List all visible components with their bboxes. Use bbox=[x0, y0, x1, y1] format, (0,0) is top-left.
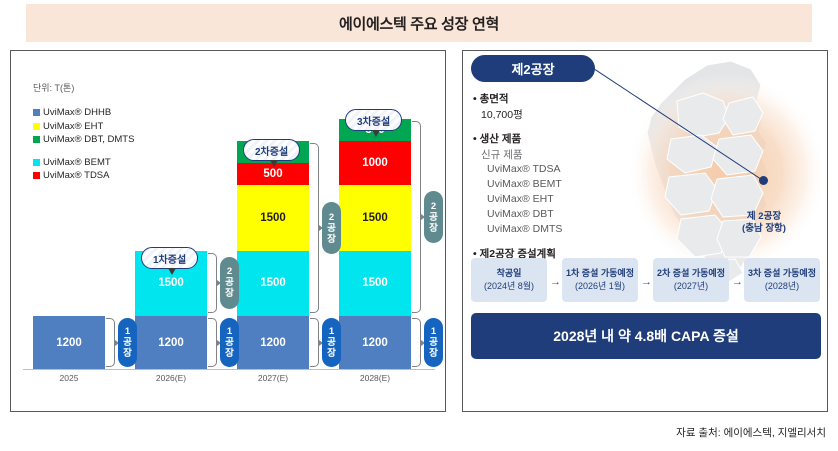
badge-char: 2 bbox=[227, 266, 232, 277]
expansion-callout: 2차증설 bbox=[243, 139, 300, 161]
factory1-badge: 1공장 bbox=[118, 318, 137, 367]
timeline-step[interactable]: 1차 증설 가동예정(2026년 1월) bbox=[562, 258, 638, 302]
badge-char: 장 bbox=[327, 234, 336, 245]
bracket bbox=[412, 318, 421, 367]
badge-char: 공 bbox=[225, 277, 234, 288]
badge-char: 2 bbox=[329, 212, 334, 223]
bracket bbox=[310, 318, 319, 367]
factory2-badge: 2공장 bbox=[322, 202, 341, 254]
bar-segment: 1200 bbox=[135, 316, 207, 369]
timeline-step[interactable]: 3차 증설 가동예정(2028년) bbox=[744, 258, 820, 302]
product-item: UviMax® TDSA bbox=[473, 162, 653, 177]
badge-char: 장 bbox=[429, 348, 438, 359]
badge-char: 공 bbox=[225, 337, 234, 348]
factory-info-block: • 총면적 10,700평 • 생산 제품 신규 제품 UviMax® TDSA… bbox=[473, 91, 653, 262]
x-axis-label: 2028(E) bbox=[339, 373, 411, 383]
x-axis-label: 2025 bbox=[33, 373, 105, 383]
infographic-page: 에이에스텍 주요 성장 연혁 단위: T(톤) UviMax® DHHBUviM… bbox=[0, 0, 838, 451]
expansion-callout: 1차증설 bbox=[141, 247, 198, 269]
bar-segment: 1500 bbox=[237, 185, 309, 251]
bar-column: 5001000150015001200 bbox=[339, 119, 411, 369]
x-axis-line bbox=[23, 369, 435, 370]
badge-char: 2 bbox=[431, 201, 436, 212]
product-item: UviMax® DMTS bbox=[473, 222, 653, 237]
badge-char: 1 bbox=[227, 326, 232, 337]
bracket bbox=[208, 253, 217, 314]
product-item: UviMax® BEMT bbox=[473, 177, 653, 192]
factory-location-dot bbox=[759, 176, 768, 185]
bar-column: 500500150015001200 bbox=[237, 141, 309, 369]
factory2-badge: 2공장 bbox=[424, 191, 443, 243]
timeline-step-date: (2028년) bbox=[765, 280, 799, 293]
badge-char: 장 bbox=[327, 348, 336, 359]
timeline-step-date: (2026년 1월) bbox=[575, 280, 625, 293]
badge-char: 공 bbox=[123, 337, 132, 348]
bar-segment: 1500 bbox=[339, 251, 411, 317]
expansion-timeline: 착공일(2024년 8월)→1차 증설 가동예정(2026년 1월)→2차 증설… bbox=[471, 258, 821, 306]
timeline-step-title: 3차 증설 가동예정 bbox=[748, 267, 816, 280]
timeline-arrow-icon: → bbox=[641, 276, 652, 288]
capa-banner-text: 2028년 내 약 4.8배 CAPA 증설 bbox=[553, 326, 738, 346]
badge-char: 1 bbox=[431, 326, 436, 337]
map-label-line2: (충남 장항) bbox=[709, 223, 819, 235]
badge-char: 장 bbox=[429, 223, 438, 234]
timeline-step[interactable]: 2차 증설 가동예정(2027년) bbox=[653, 258, 729, 302]
bar-segment: 1200 bbox=[237, 316, 309, 369]
timeline-step-title: 착공일 bbox=[497, 267, 522, 280]
source-footer: 자료 출처: 에이에스텍, 지엘리서치 bbox=[676, 425, 826, 440]
badge-char: 공 bbox=[327, 337, 336, 348]
factory1-badge: 1공장 bbox=[220, 318, 239, 367]
factory-header-text: 제2공장 bbox=[511, 59, 554, 78]
badge-char: 1 bbox=[125, 326, 130, 337]
bar-segment: 1500 bbox=[339, 185, 411, 251]
badge-char: 장 bbox=[225, 348, 234, 359]
bar-segment: 1500 bbox=[237, 251, 309, 317]
bracket bbox=[208, 318, 217, 367]
total-area-heading: • 총면적 bbox=[473, 91, 653, 106]
page-title: 에이에스텍 주요 성장 연혁 bbox=[339, 13, 499, 34]
badge-char: 장 bbox=[225, 288, 234, 299]
timeline-arrow-icon: → bbox=[550, 276, 561, 288]
factory2-badge: 2공장 bbox=[220, 257, 239, 309]
bar-segment: 1200 bbox=[33, 316, 105, 369]
total-area-value: 10,700평 bbox=[473, 107, 653, 122]
badge-char: 공 bbox=[327, 223, 336, 234]
bar-column: 1200 bbox=[33, 316, 105, 369]
bar-segment: 1000 bbox=[339, 141, 411, 185]
factory1-badge: 1공장 bbox=[424, 318, 443, 367]
x-axis-label: 2027(E) bbox=[237, 373, 309, 383]
badge-char: 장 bbox=[123, 348, 132, 359]
stacked-bar-chart: 1200150012005005001500150012005001000150… bbox=[11, 51, 447, 413]
bracket bbox=[412, 121, 421, 313]
product-list: UviMax® TDSAUviMax® BEMTUviMax® EHTUviMa… bbox=[473, 162, 653, 237]
timeline-step-title: 2차 증설 가동예정 bbox=[657, 267, 725, 280]
map-label-line1: 제 2공장 bbox=[709, 211, 819, 223]
factory-header-pill: 제2공장 bbox=[471, 55, 595, 82]
timeline-step-date: (2024년 8월) bbox=[484, 280, 534, 293]
timeline-step-title: 1차 증설 가동예정 bbox=[566, 267, 634, 280]
capa-banner: 2028년 내 약 4.8배 CAPA 증설 bbox=[471, 313, 821, 359]
product-item: UviMax® EHT bbox=[473, 192, 653, 207]
badge-char: 공 bbox=[429, 212, 438, 223]
factory-panel: 제2공장 제 2공장 (충남 장항) • 총면적 10,700평 • 생산 제품… bbox=[462, 50, 828, 412]
x-axis-label: 2026(E) bbox=[135, 373, 207, 383]
timeline-arrow-icon: → bbox=[732, 276, 743, 288]
bracket bbox=[310, 143, 319, 313]
map-location-label: 제 2공장 (충남 장항) bbox=[709, 211, 819, 235]
timeline-step-date: (2027년) bbox=[674, 280, 708, 293]
chart-panel: 단위: T(톤) UviMax® DHHBUviMax® EHTUviMax® … bbox=[10, 50, 446, 412]
factory1-badge: 1공장 bbox=[322, 318, 341, 367]
products-heading: • 생산 제품 bbox=[473, 131, 653, 146]
expansion-callout: 3차증설 bbox=[345, 109, 402, 131]
bracket bbox=[106, 318, 115, 367]
products-subheading: 신규 제품 bbox=[473, 147, 653, 162]
page-title-bar: 에이에스텍 주요 성장 연혁 bbox=[26, 4, 812, 42]
timeline-step[interactable]: 착공일(2024년 8월) bbox=[471, 258, 547, 302]
badge-char: 공 bbox=[429, 337, 438, 348]
bar-segment: 1200 bbox=[339, 316, 411, 369]
product-item: UviMax® DBT bbox=[473, 207, 653, 222]
badge-char: 1 bbox=[329, 326, 334, 337]
